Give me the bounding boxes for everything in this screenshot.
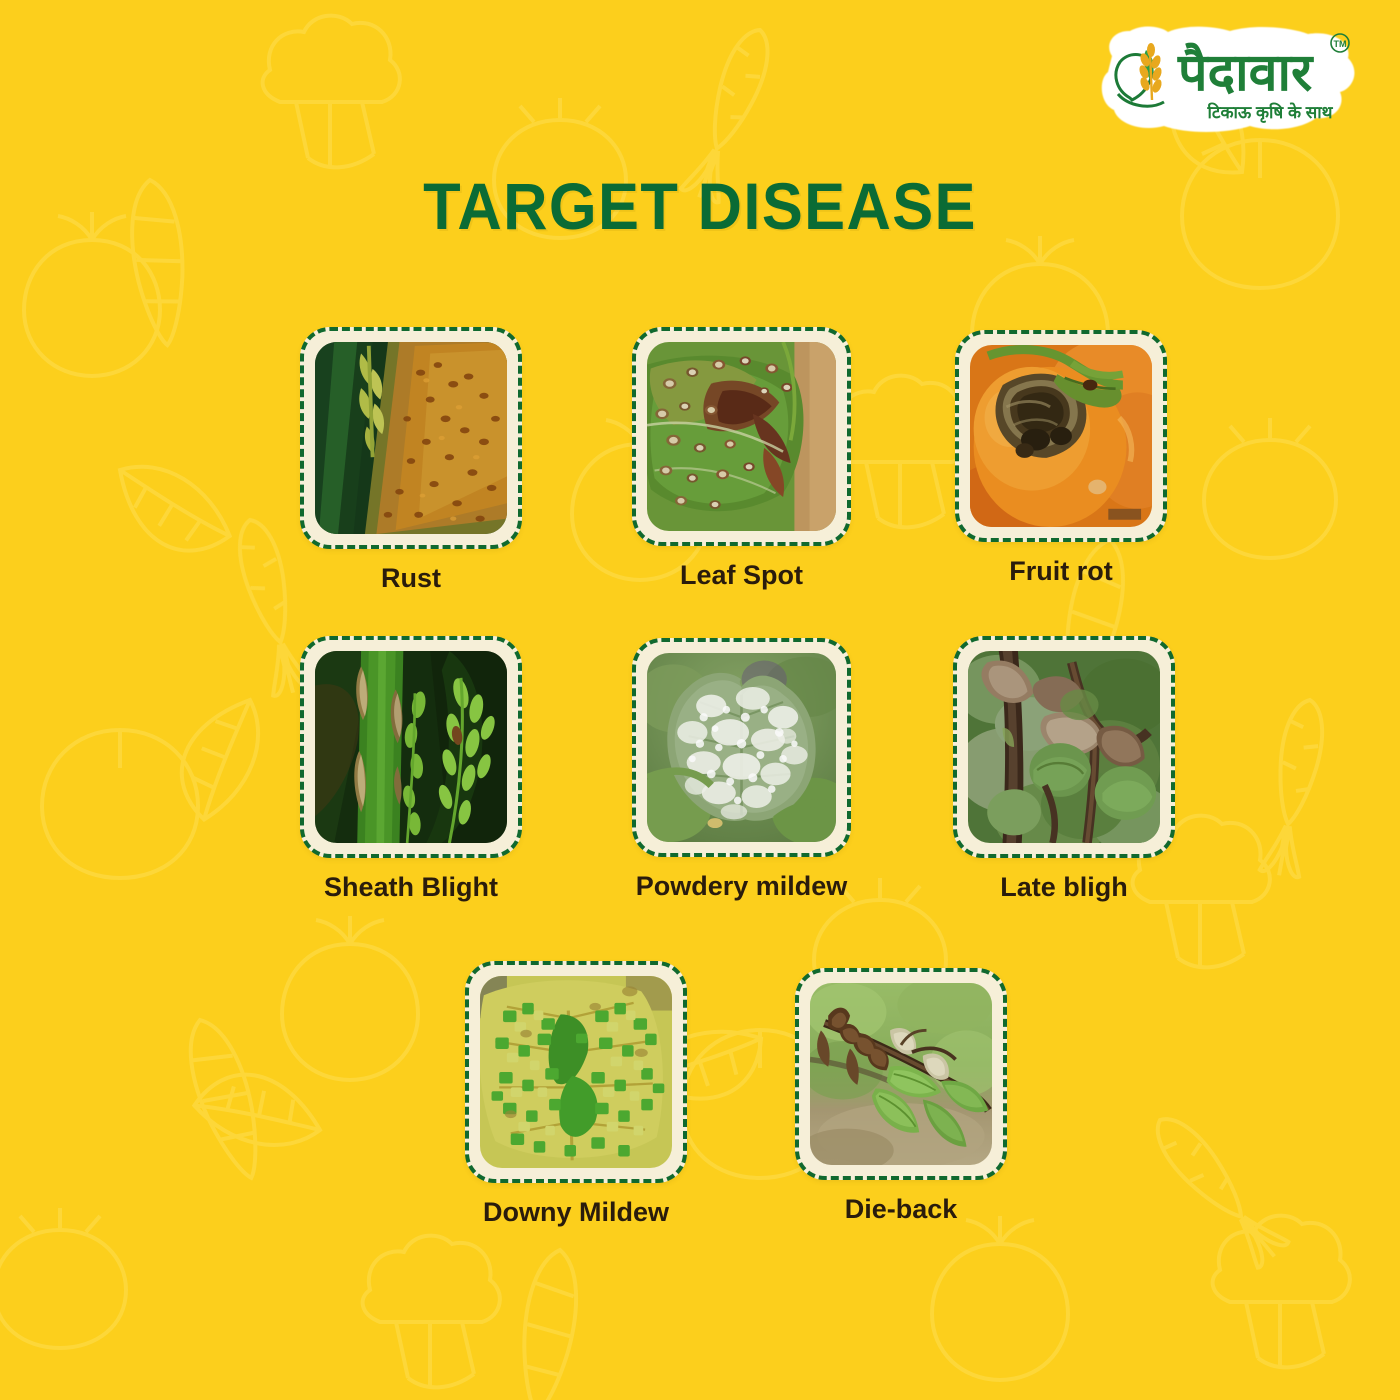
fruit-rot-tomato-photo [970, 345, 1152, 527]
disease-card-fruit-rot[interactable]: Fruit rot [955, 330, 1167, 587]
disease-card-rust[interactable]: Rust [300, 327, 522, 594]
card-label: Rust [381, 563, 441, 594]
card-frame [955, 330, 1167, 542]
logo-brand-name: पैदावार [1177, 42, 1314, 102]
card-frame [632, 638, 851, 857]
card-label: Fruit rot [1009, 556, 1112, 587]
card-frame [300, 636, 522, 858]
leaf-spot-photo [647, 342, 836, 531]
die-back-branch-photo [810, 983, 992, 1165]
card-label: Leaf Spot [680, 560, 803, 591]
card-label: Powdery mildew [636, 871, 848, 902]
late-blight-potato-photo [968, 651, 1160, 843]
disease-card-powdery-mildew[interactable]: Powdery mildew [632, 638, 851, 902]
card-frame [300, 327, 522, 549]
card-label: Late bligh [1000, 872, 1128, 903]
brand-logo: पैदावार टिकाऊ कृषि के साथ TM [1094, 22, 1364, 140]
disease-card-late-blight[interactable]: Late bligh [953, 636, 1175, 903]
sheath-blight-rice-photo [315, 651, 507, 843]
card-label: Sheath Blight [324, 872, 498, 903]
card-frame [465, 961, 687, 1183]
logo-tagline: टिकाऊ कृषि के साथ [1206, 102, 1333, 123]
card-label: Downy Mildew [483, 1197, 669, 1228]
disease-card-downy-mildew[interactable]: Downy Mildew [465, 961, 687, 1228]
card-frame [632, 327, 851, 546]
logo-trademark: TM [1334, 39, 1347, 49]
disease-card-leaf-spot[interactable]: Leaf Spot [632, 327, 851, 591]
page-title: TARGET DISEASE [49, 168, 1351, 244]
card-label: Die-back [845, 1194, 958, 1225]
powdery-mildew-leaf-photo [647, 653, 836, 842]
card-frame [953, 636, 1175, 858]
card-frame [795, 968, 1007, 1180]
downy-mildew-leaf-photo [480, 976, 672, 1168]
disease-card-die-back[interactable]: Die-back [795, 968, 1007, 1225]
disease-card-sheath-blight[interactable]: Sheath Blight [300, 636, 522, 903]
rust-wheat-leaf-photo [315, 342, 507, 534]
